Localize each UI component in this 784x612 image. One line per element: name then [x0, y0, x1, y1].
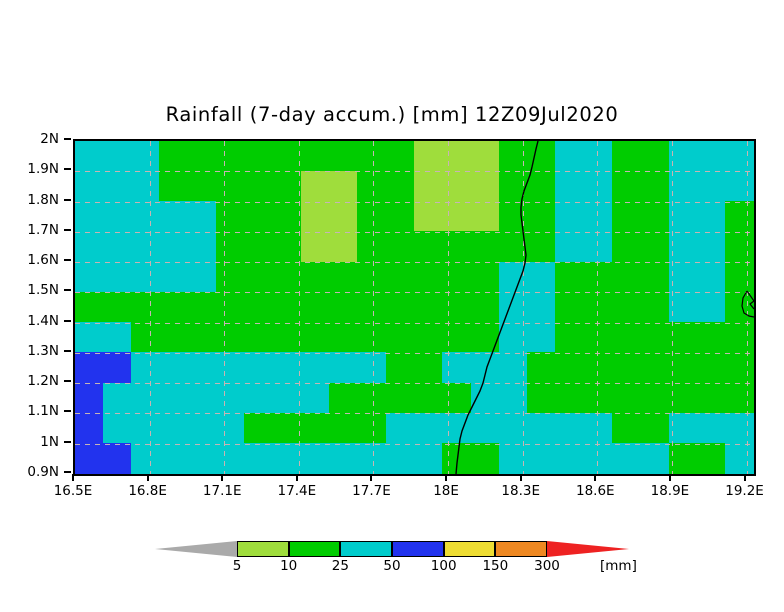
- y-axis-label: 1.1N: [0, 403, 59, 419]
- colorbar-tick-label: 300: [534, 558, 560, 574]
- x-axis-label: 18E: [433, 483, 459, 499]
- y-axis-label: 1.9N: [0, 161, 59, 177]
- y-axis-tick: [64, 259, 71, 261]
- colorbar-segment: [444, 541, 496, 557]
- x-axis-tick: [72, 474, 74, 481]
- x-axis-tick: [669, 474, 671, 481]
- rainfall-heatmap-canvas: [75, 141, 754, 474]
- colorbar-tick-label: 50: [383, 558, 400, 574]
- y-axis-tick: [64, 199, 71, 201]
- x-axis-tick: [296, 474, 298, 481]
- y-axis-tick: [64, 380, 71, 382]
- plot-inner: [75, 141, 754, 474]
- rainfall-map-figure: Rainfall (7-day accum.) [mm] 12Z09Jul202…: [0, 0, 784, 612]
- y-axis-label: 1.6N: [0, 252, 59, 268]
- colorbar-tick-label: 5: [233, 558, 242, 574]
- y-axis-tick: [64, 471, 71, 473]
- x-axis-label: 17.4E: [278, 483, 317, 499]
- y-axis-label: 1.4N: [0, 313, 59, 329]
- x-axis-tick: [445, 474, 447, 481]
- colorbar-segment: [340, 541, 392, 557]
- x-axis-label: 17.1E: [203, 483, 242, 499]
- x-axis-label: 18.9E: [651, 483, 690, 499]
- x-axis-label: 19.2E: [725, 483, 764, 499]
- x-axis-label: 16.8E: [128, 483, 167, 499]
- colorbar-tick-label: 25: [332, 558, 349, 574]
- y-axis-label: 1.7N: [0, 222, 59, 238]
- y-axis-label: 0.9N: [0, 464, 59, 480]
- y-axis-label: 1.8N: [0, 192, 59, 208]
- y-axis-label: 1.2N: [0, 373, 59, 389]
- x-axis-tick: [744, 474, 746, 481]
- colorbar-segment: [392, 541, 444, 557]
- colorbar-segment: [495, 541, 547, 557]
- x-axis-tick: [594, 474, 596, 481]
- x-axis-tick: [147, 474, 149, 481]
- y-axis-tick: [64, 350, 71, 352]
- colorbar-segment: [289, 541, 341, 557]
- y-axis-tick: [64, 289, 71, 291]
- y-axis-tick: [64, 320, 71, 322]
- colorbar-high-arrow: [547, 541, 629, 557]
- colorbar-units-label: [mm]: [600, 558, 637, 574]
- y-axis-label: 2N: [0, 131, 59, 147]
- x-axis-label: 17.7E: [352, 483, 391, 499]
- colorbar-tick-label: 150: [482, 558, 508, 574]
- x-axis-label: 16.5E: [54, 483, 93, 499]
- y-axis-tick: [64, 441, 71, 443]
- plot-area: [73, 139, 756, 476]
- y-axis-tick: [64, 229, 71, 231]
- colorbar-segment: [237, 541, 289, 557]
- y-axis-tick: [64, 410, 71, 412]
- page-title: Rainfall (7-day accum.) [mm] 12Z09Jul202…: [0, 103, 784, 126]
- x-axis-label: 18.3E: [501, 483, 540, 499]
- y-axis-label: 1.3N: [0, 343, 59, 359]
- colorbar-segments: [155, 541, 629, 557]
- y-axis-tick: [64, 138, 71, 140]
- y-axis-label: 1.5N: [0, 282, 59, 298]
- colorbar-low-arrow: [155, 541, 237, 557]
- x-axis-tick: [370, 474, 372, 481]
- x-axis-tick: [520, 474, 522, 481]
- y-axis-label: 1N: [0, 434, 59, 450]
- x-axis-label: 18.6E: [576, 483, 615, 499]
- x-axis-tick: [221, 474, 223, 481]
- colorbar-tick-label: 100: [431, 558, 457, 574]
- y-axis-tick: [64, 168, 71, 170]
- colorbar-tick-label: 10: [280, 558, 297, 574]
